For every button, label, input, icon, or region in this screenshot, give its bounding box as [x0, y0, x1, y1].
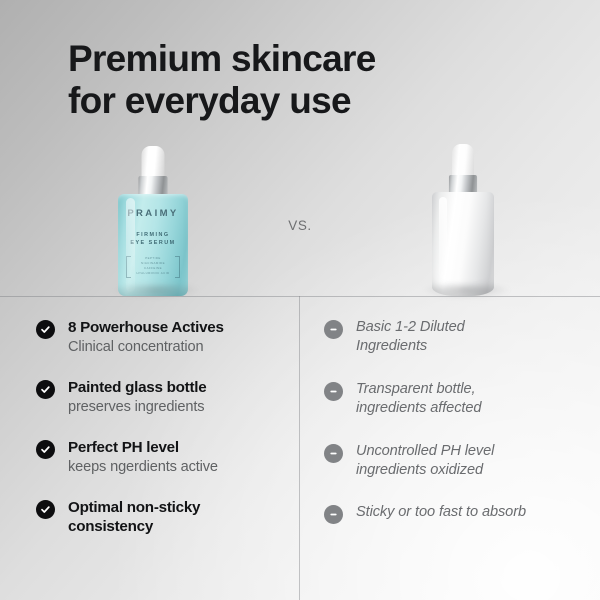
cons-item-text: Transparent bottle, ingredients affected: [356, 380, 481, 419]
pros-list-item: Painted glass bottle preserves ingredien…: [36, 378, 283, 417]
cons-list-item: Transparent bottle, ingredients affected: [324, 380, 586, 419]
dropper-cap-icon: [142, 146, 165, 179]
product-comparison-stage: PRAIMY FIRMING EYE SERUM PEPTIDE NIACINA…: [0, 130, 600, 296]
dropper-cap-icon: [452, 144, 474, 178]
bottle-body: [432, 192, 494, 296]
dropper-collar-icon: [139, 176, 168, 196]
cons-item-text: Basic 1-2 Diluted Ingredients: [356, 318, 465, 357]
check-circle-icon: [36, 320, 55, 339]
comparison-columns: 8 Powerhouse Actives Clinical concentrat…: [0, 296, 600, 600]
bottle-ingredient-microtext: PEPTIDE NIACINAMIDE CAFFEINE HYALURONIC …: [131, 256, 175, 276]
pros-item-subtitle: preserves ingredients: [68, 398, 206, 417]
pros-item-title: 8 Powerhouse Actives: [68, 319, 224, 336]
pros-item-title: Optimal non-sticky consistency: [68, 498, 238, 536]
pros-list-item: 8 Powerhouse Actives Clinical concentrat…: [36, 318, 283, 357]
check-circle-icon: [36, 380, 55, 399]
cons-list-item: Sticky or too fast to absorb: [324, 503, 586, 524]
cons-item-text: Uncontrolled PH level ingredients oxidiz…: [356, 442, 494, 481]
check-circle-icon: [36, 500, 55, 519]
cons-column: Basic 1-2 Diluted Ingredients Transparen…: [299, 296, 600, 600]
pros-column: 8 Powerhouse Actives Clinical concentrat…: [0, 296, 299, 600]
pros-list-item: Perfect PH level keeps ngerdients active: [36, 438, 283, 477]
bottle-product-label: FIRMING EYE SERUM: [118, 231, 188, 248]
pros-item-title: Perfect PH level: [68, 439, 179, 456]
product-bottle-generic: [408, 130, 518, 296]
minus-circle-icon: [324, 382, 343, 401]
minus-circle-icon: [324, 320, 343, 339]
infographic-poster: Premium skincare for everyday use PRAIMY…: [0, 0, 600, 600]
pros-item-title: Painted glass bottle: [68, 379, 206, 396]
cons-item-text: Sticky or too fast to absorb: [356, 503, 526, 522]
bottle-body: PRAIMY FIRMING EYE SERUM PEPTIDE NIACINA…: [118, 194, 188, 296]
cons-list-item: Uncontrolled PH level ingredients oxidiz…: [324, 442, 586, 481]
minus-circle-icon: [324, 505, 343, 524]
cons-list-item: Basic 1-2 Diluted Ingredients: [324, 318, 586, 357]
page-title: Premium skincare for everyday use: [68, 38, 538, 122]
pros-item-subtitle: keeps ngerdients active: [68, 458, 218, 477]
minus-circle-icon: [324, 444, 343, 463]
pros-item-subtitle: Clinical concentration: [68, 338, 224, 357]
check-circle-icon: [36, 440, 55, 459]
pros-list-item: Optimal non-sticky consistency: [36, 498, 283, 536]
product-bottle-praimy: PRAIMY FIRMING EYE SERUM PEPTIDE NIACINA…: [98, 130, 208, 296]
